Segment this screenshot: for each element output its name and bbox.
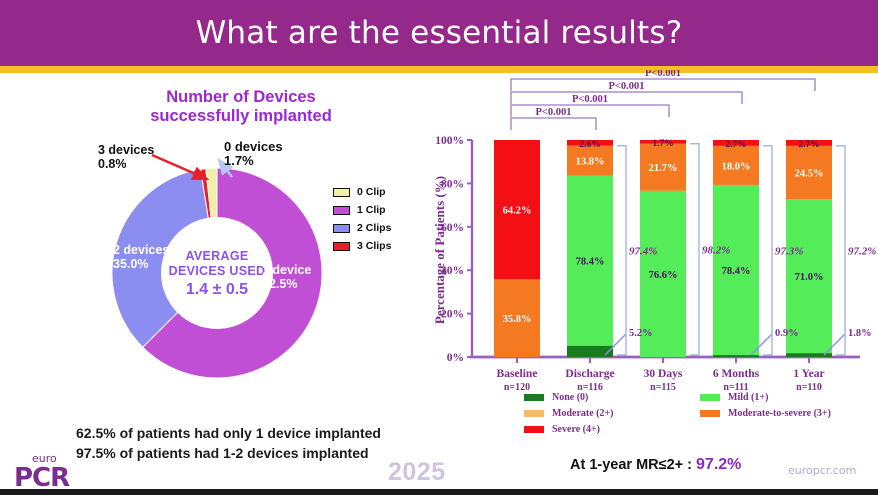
y-axis-tick-label: 100% xyxy=(435,135,464,147)
bar-legend-item: Mild (1+) xyxy=(700,392,876,403)
bar-legend-swatch xyxy=(524,410,544,417)
bar-value-label: 13.8% xyxy=(576,157,605,168)
bar-value-label: 21.7% xyxy=(649,163,678,174)
bar-legend-label: Moderate-to-severe (3+) xyxy=(728,408,831,419)
x-axis-category-label: Discharge xyxy=(565,368,614,380)
side-bracket-label: 97.2% xyxy=(848,245,876,257)
donut-label-0-devices: 0 devices 1.7% xyxy=(224,140,283,168)
bar-value-label: 2.7% xyxy=(798,140,819,150)
x-axis-category-label: 1 Year xyxy=(793,368,824,380)
bar-value-label: 71.0% xyxy=(795,272,824,283)
bar-legend-label: Severe (4+) xyxy=(552,424,600,435)
bar-legend-item: Moderate-to-severe (3+) xyxy=(700,408,876,419)
bar-legend-row: None (0)Mild (1+) xyxy=(524,392,878,403)
bar-value-label: 78.4% xyxy=(722,266,751,277)
significance-bracket xyxy=(511,79,815,91)
year-watermark: 2025 xyxy=(388,458,446,487)
donut-label-1-device-pct: 62.5% xyxy=(262,277,311,291)
y-axis-tick-label: 0% xyxy=(447,352,464,364)
stacked-bar-chart-svg: 0%20%40%60%80%100%Percentage of Patients… xyxy=(430,70,878,400)
donut-label-2-devices-pct: 35.0% xyxy=(113,257,169,271)
page-title: What are the essential results? xyxy=(0,0,878,66)
donut-label-3-devices: 3 devices 0.8% xyxy=(98,143,154,171)
bar-segment xyxy=(713,355,759,357)
bar-legend-swatch xyxy=(700,394,720,401)
bar-value-label: 35.8% xyxy=(503,314,532,325)
bar-legend-label: None (0) xyxy=(552,392,588,403)
bar-legend-item: Severe (4+) xyxy=(524,424,700,435)
bar-value-label: 5.2% xyxy=(629,328,653,339)
footer-note-2: 97.5% of patients had 1-2 devices implan… xyxy=(76,443,436,463)
bar-value-label: 76.6% xyxy=(649,270,678,281)
bar-chart-legend: None (0)Mild (1+)Moderate (2+)Moderate-t… xyxy=(524,392,878,440)
bar-value-label: 1.7% xyxy=(652,139,673,149)
bar-legend-swatch xyxy=(700,410,720,417)
bar-value-label: 1.8% xyxy=(848,328,872,339)
bar-value-label: 64.2% xyxy=(503,206,532,217)
x-axis-category-label: 30 Days xyxy=(644,368,683,380)
bar-legend-swatch xyxy=(524,426,544,433)
stacked-bar-chart: 0%20%40%60%80%100%Percentage of Patients… xyxy=(430,70,878,400)
bar-legend-label: Mild (1+) xyxy=(728,392,768,403)
donut-title-line-2: successfully implanted xyxy=(96,107,386,126)
side-bracket xyxy=(763,146,772,355)
side-bracket xyxy=(836,146,845,355)
donut-label-1-device-name: 1 device xyxy=(262,263,311,277)
donut-label-1-device: 1 device 62.5% xyxy=(262,263,311,291)
bar-legend-label: Moderate (2+) xyxy=(552,408,614,419)
bar-segment xyxy=(567,346,613,357)
bar-value-label: 2.7% xyxy=(725,140,746,150)
significance-bracket-label: P<0.001 xyxy=(608,81,644,92)
donut-hole xyxy=(161,217,273,329)
donut-label-2-devices: 2 devices 35.0% xyxy=(113,243,169,271)
donut-legend-item: 1 Clip xyxy=(333,202,391,218)
bar-legend-item: Moderate (2+) xyxy=(524,408,700,419)
donut-label-0-devices-pct: 1.7% xyxy=(224,154,283,168)
donut-label-3-devices-name: 3 devices xyxy=(98,143,154,157)
bar-legend-row: Severe (4+) xyxy=(524,424,878,435)
side-bracket xyxy=(690,144,699,355)
site-watermark: europcr.com xyxy=(788,464,856,477)
significance-bracket-label: P<0.001 xyxy=(572,94,608,105)
significance-bracket-label: P<0.001 xyxy=(645,70,681,79)
bar-legend-item: None (0) xyxy=(524,392,700,403)
donut-legend-item: 0 Clip xyxy=(333,184,391,200)
x-axis-category-label: Baseline xyxy=(497,368,538,380)
bar-legend-swatch xyxy=(524,394,544,401)
donut-legend-label: 3 Clips xyxy=(357,240,391,252)
donut-legend: 0 Clip1 Clip2 Clips3 Clips xyxy=(333,184,391,256)
bar-value-label: 0.9% xyxy=(775,328,799,339)
side-bracket-label: 97.4% xyxy=(629,245,657,257)
side-bracket-label: 97.3% xyxy=(775,245,803,257)
donut-label-3-devices-pct: 0.8% xyxy=(98,157,154,171)
conclusion-label: At 1-year MR≤2+ : xyxy=(570,457,692,473)
donut-label-0-devices-name: 0 devices xyxy=(224,140,283,154)
significance-bracket xyxy=(511,118,596,130)
slide-header: What are the essential results? xyxy=(0,0,878,66)
donut-legend-swatch xyxy=(333,224,350,233)
donut-legend-item: 3 Clips xyxy=(333,238,391,254)
donut-chart-title: Number of Devices successfully implanted xyxy=(96,88,386,126)
donut-label-2-devices-name: 2 devices xyxy=(113,243,169,257)
donut-title-line-1: Number of Devices xyxy=(96,88,386,107)
conclusion-text: At 1-year MR≤2+ : 97.2% xyxy=(570,456,741,474)
bar-legend-row: Moderate (2+)Moderate-to-severe (3+) xyxy=(524,408,878,419)
donut-legend-swatch xyxy=(333,242,350,251)
bar-value-label: 18.0% xyxy=(722,161,751,172)
donut-legend-swatch xyxy=(333,188,350,197)
donut-legend-swatch xyxy=(333,206,350,215)
footer-note-1: 62.5% of patients had only 1 device impl… xyxy=(76,423,436,443)
donut-legend-label: 0 Clip xyxy=(357,186,386,198)
donut-legend-label: 1 Clip xyxy=(357,204,386,216)
bar-value-label: 24.5% xyxy=(795,168,824,179)
europcr-logo: euro PCR xyxy=(12,452,88,490)
slide-bottom-rule xyxy=(0,489,878,495)
significance-bracket xyxy=(511,92,742,104)
conclusion-value: 97.2% xyxy=(696,456,741,473)
donut-legend-label: 2 Clips xyxy=(357,222,391,234)
y-axis-title: Percentage of Patients (%) xyxy=(432,176,447,324)
significance-bracket-label: P<0.001 xyxy=(535,107,571,118)
side-bracket-label: 98.2% xyxy=(702,244,730,256)
side-bracket xyxy=(617,146,626,355)
donut-footer-notes: 62.5% of patients had only 1 device impl… xyxy=(76,423,436,463)
donut-legend-item: 2 Clips xyxy=(333,220,391,236)
bar-value-label: 78.4% xyxy=(576,257,605,268)
bar-value-label: 2.6% xyxy=(579,140,600,150)
x-axis-category-label: 6 Months xyxy=(713,368,760,380)
